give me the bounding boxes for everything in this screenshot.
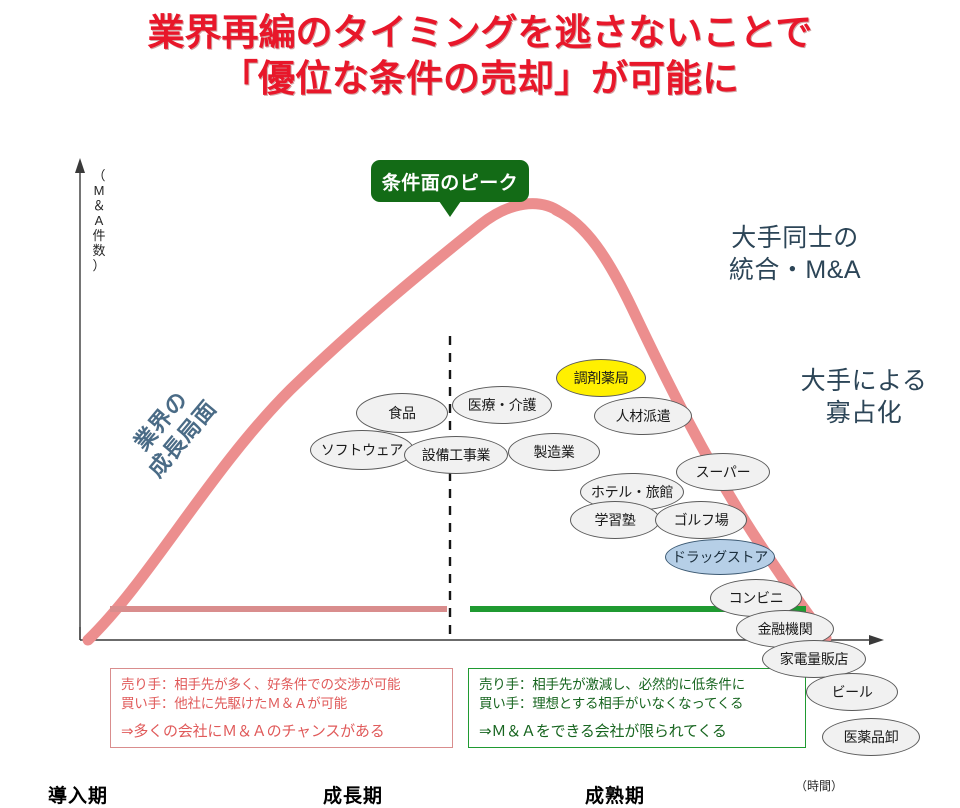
mature-conclusion: ⇒Ｍ＆Ａをできる会社が限られてくる [479, 722, 795, 741]
mature-phase-info-box: 売り手：相手先が激減し、必然的に低条件に 買い手：理想とする相手がいなくなってく… [468, 668, 806, 748]
industry-node: 人材派遣 [594, 397, 692, 435]
y-axis-label: （ M ＆ A 件 数 ） [88, 168, 110, 273]
industry-node: ドラッグストア [665, 539, 775, 575]
consolidation-line-1: 大手同士の [690, 222, 900, 254]
phase-label-introduction: 導入期 [48, 781, 108, 808]
consolidation-line-2: 統合・M&A [690, 254, 900, 286]
y-axis-char-5: 数 [88, 243, 110, 258]
industry-node: ゴルフ場 [655, 501, 747, 539]
growth-seller-line: 売り手：相手先が多く、好条件での交渉が可能 [121, 675, 442, 694]
y-axis-char-4: 件 [88, 228, 110, 243]
industry-node: 医薬品卸 [822, 718, 920, 756]
peak-condition-callout: 条件面のピーク [371, 160, 529, 202]
industry-reorganization-diagram: （ M ＆ A 件 数 ） 業界の 成長局面 大手同士の 統合・M&A 大手によ… [0, 140, 960, 686]
growth-conclusion: ⇒多くの会社にＭ＆Ａのチャンスがある [121, 722, 442, 741]
mature-seller-line: 売り手：相手先が激減し、必然的に低条件に [479, 675, 795, 694]
phase-label-maturity: 成熟期 [585, 781, 645, 808]
peak-callout-label: 条件面のピーク [382, 168, 519, 195]
industry-node: 製造業 [508, 433, 600, 471]
growth-buyer-line: 買い手：他社に先駆けたＭ＆Ａが可能 [121, 694, 442, 713]
industry-node: ソフトウェア [310, 430, 414, 470]
heading-major-player-consolidation: 大手同士の 統合・M&A [690, 222, 900, 286]
phase-label-growth: 成長期 [323, 781, 383, 808]
y-axis-char-1: M [88, 183, 110, 198]
y-axis-char-6: ） [88, 258, 110, 273]
x-axis-label: （時間） [795, 777, 843, 794]
title-line-1: 業界再編のタイミングを逃さないことで [0, 10, 960, 56]
y-axis-char-0: （ [88, 168, 110, 183]
oligopoly-line-1: 大手による [778, 365, 950, 397]
oligopoly-line-2: 寡占化 [778, 397, 950, 429]
mature-buyer-line: 買い手：理想とする相手がいなくなってくる [479, 694, 795, 713]
industry-node: 調剤薬局 [556, 359, 646, 397]
industry-node: 食品 [356, 393, 448, 433]
industry-node: 設備工事業 [404, 436, 508, 474]
heading-oligopoly: 大手による 寡占化 [778, 365, 950, 429]
industry-node: 学習塾 [570, 501, 660, 539]
industry-node: 医療・介護 [452, 386, 552, 424]
title-line-2: 「優位な条件の売却」が可能に [0, 56, 960, 102]
industry-node: ビール [806, 673, 898, 711]
page-title: 業界再編のタイミングを逃さないことで 「優位な条件の売却」が可能に [0, 10, 960, 102]
growth-phase-info-box: 売り手：相手先が多く、好条件での交渉が可能 買い手：他社に先駆けたＭ＆Ａが可能 … [110, 668, 453, 748]
y-axis-char-3: A [88, 213, 110, 228]
y-axis [75, 158, 85, 640]
industry-node: スーパー [676, 453, 770, 491]
callout-tail-icon [439, 201, 461, 217]
y-axis-char-2: ＆ [88, 198, 110, 213]
